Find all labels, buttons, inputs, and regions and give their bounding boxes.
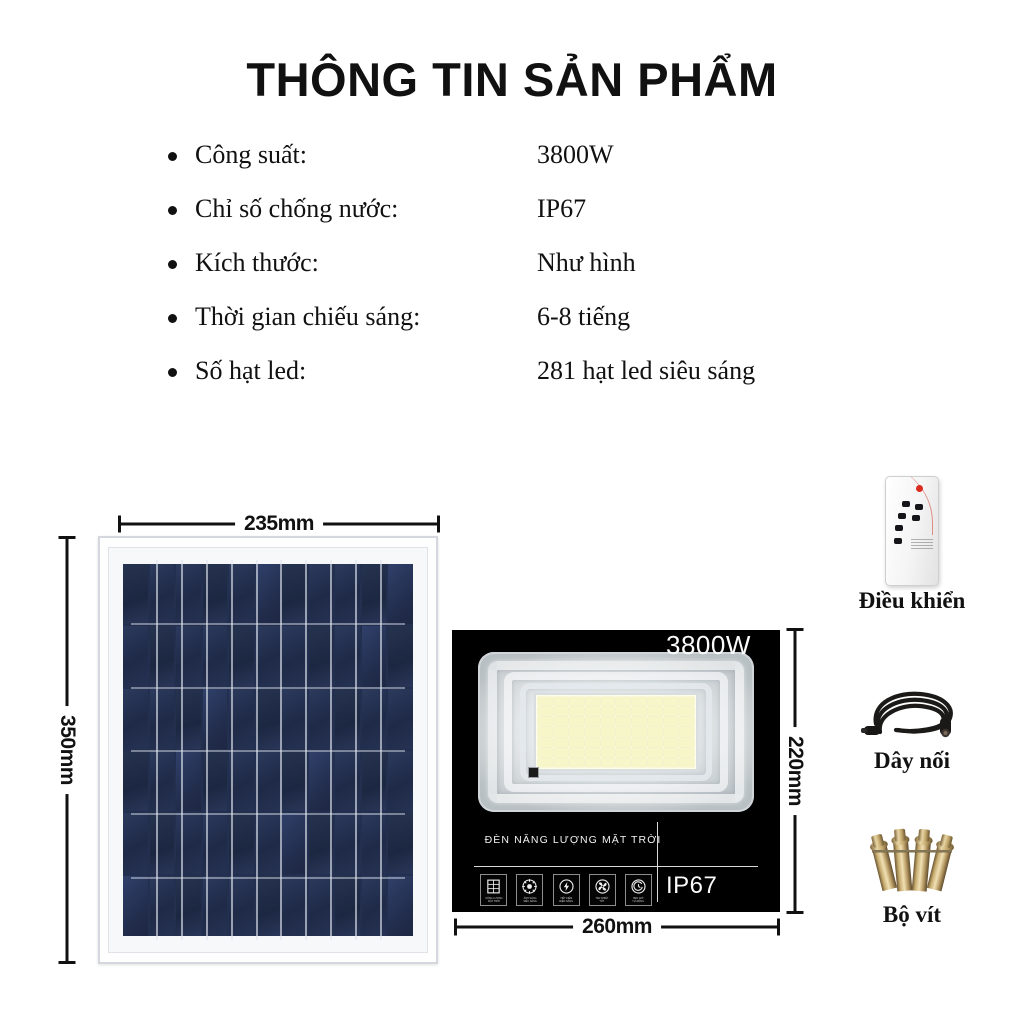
led-chip xyxy=(679,727,694,736)
solar-cell xyxy=(176,626,201,686)
sunburst-icon xyxy=(521,878,538,895)
led-chip xyxy=(601,697,616,706)
solar-cell xyxy=(388,813,413,873)
led-chip xyxy=(616,697,631,706)
solar-cell xyxy=(309,751,334,811)
spec-label: Thời gian chiếu sáng: xyxy=(195,301,537,333)
led-chip xyxy=(538,697,553,706)
solar-cell xyxy=(176,564,201,624)
led-chip xyxy=(538,738,553,747)
led-chip xyxy=(616,707,631,716)
bullet-icon xyxy=(168,368,177,377)
led-chip xyxy=(632,707,647,716)
led-chip xyxy=(632,727,647,736)
led-chip xyxy=(632,748,647,757)
solar-cell xyxy=(362,813,387,873)
solar-cell xyxy=(150,689,175,749)
remote-button-icon xyxy=(895,525,903,531)
spec-row: Chỉ số chống nước: IP67 xyxy=(168,193,888,247)
led-chip xyxy=(616,748,631,757)
accessory-caption: Dây nối xyxy=(812,748,1012,774)
solar-cell xyxy=(123,626,148,686)
floodlight-height-label: 220mm xyxy=(783,727,807,815)
led-chip xyxy=(664,758,679,767)
solar-cell xyxy=(203,689,228,749)
floodlight-black-panel: ĐÈN NĂNG LƯỢNG MẶT TRỜI 3800W IP67 NĂNG … xyxy=(452,630,780,912)
solar-cell xyxy=(229,751,254,811)
feature-badge-caption: HẸN GIỜ TỰ ĐỘNG xyxy=(633,897,645,903)
feature-badge-caption: NĂNG LƯỢNG MẶT TRỜI xyxy=(485,897,502,903)
dimension-end-cap xyxy=(59,961,76,964)
solar-cell xyxy=(256,813,281,873)
feature-badge: NĂNG LƯỢNG MẶT TRỜI xyxy=(480,874,507,906)
accessory-cable: Dây nối xyxy=(812,684,1012,774)
solar-cell xyxy=(176,751,201,811)
led-chip-array xyxy=(534,693,698,771)
solar-cell xyxy=(256,876,281,936)
remote-control-icon xyxy=(885,476,939,586)
led-chip xyxy=(679,707,694,716)
led-chip xyxy=(664,727,679,736)
led-chip xyxy=(538,707,553,716)
dimension-end-cap xyxy=(454,919,457,936)
accessory-caption: Bộ vít xyxy=(812,902,1012,928)
led-chip xyxy=(648,717,663,726)
bullet-icon xyxy=(168,260,177,269)
spec-list: Công suất: 3800W Chỉ số chống nước: IP67… xyxy=(168,139,888,409)
spec-value: IP67 xyxy=(537,193,888,225)
led-chip xyxy=(648,758,663,767)
solar-cell xyxy=(203,751,228,811)
dimension-end-cap xyxy=(118,516,121,533)
solar-cell xyxy=(335,876,360,936)
solar-cell xyxy=(282,876,307,936)
solar-panel-diagram: 235mm 350mm xyxy=(38,480,438,970)
floodlight-diagram: ĐÈN NĂNG LƯỢNG MẶT TRỜI 3800W IP67 NĂNG … xyxy=(452,620,800,950)
led-chip xyxy=(569,707,584,716)
led-chip xyxy=(679,717,694,726)
led-chip xyxy=(648,697,663,706)
floodlight-height-dimension: 220mm xyxy=(784,628,806,914)
solar-panel-height-dimension: 350mm xyxy=(56,536,78,964)
solar-cell xyxy=(150,876,175,936)
floodlight-caption-row: ĐÈN NĂNG LƯỢNG MẶT TRỜI xyxy=(474,826,764,864)
fan-icon xyxy=(594,878,611,895)
solar-cell xyxy=(256,626,281,686)
remote-text-block xyxy=(911,539,933,549)
led-chip xyxy=(585,707,600,716)
led-chip xyxy=(648,748,663,757)
solar-panel-icon xyxy=(485,878,502,895)
led-chip xyxy=(554,758,569,767)
solar-cell xyxy=(203,876,228,936)
led-chip xyxy=(538,748,553,757)
cable-connector-left xyxy=(861,726,880,735)
solar-cell xyxy=(388,876,413,936)
solar-cell xyxy=(362,751,387,811)
dimension-end-cap xyxy=(437,516,440,533)
floodlight-width-label: 260mm xyxy=(573,915,661,939)
floodlight-housing xyxy=(478,652,754,812)
solar-cell xyxy=(176,813,201,873)
led-chip xyxy=(585,738,600,747)
solar-panel-height-label: 350mm xyxy=(55,706,79,794)
solar-cell xyxy=(229,813,254,873)
feature-badge-caption: TẢN NHIỆT TỐT xyxy=(596,897,609,903)
led-chip xyxy=(664,707,679,716)
led-chip xyxy=(679,758,694,767)
cable-svg xyxy=(858,684,966,746)
solar-cell xyxy=(229,876,254,936)
solar-cell xyxy=(335,626,360,686)
led-chip xyxy=(664,717,679,726)
spec-row: Công suất: 3800W xyxy=(168,139,888,193)
led-chip xyxy=(569,697,584,706)
feature-badge: ÁNH SÁNG SIÊU SÁNG xyxy=(516,874,543,906)
feature-badge: TIẾT KIỆM ĐIỆN NĂNG xyxy=(553,874,580,906)
solar-cell xyxy=(282,689,307,749)
lightning-icon xyxy=(558,878,575,895)
led-chip xyxy=(538,758,553,767)
solar-cell xyxy=(282,751,307,811)
spec-value: 281 hạt led siêu sáng xyxy=(537,355,888,387)
led-chip xyxy=(554,717,569,726)
led-chip xyxy=(601,707,616,716)
solar-cell xyxy=(388,689,413,749)
dimension-end-cap xyxy=(59,536,76,539)
remote-button-icon xyxy=(894,538,902,544)
solar-cell xyxy=(150,564,175,624)
led-chip xyxy=(601,738,616,747)
spec-label: Công suất: xyxy=(195,139,537,171)
led-chip xyxy=(569,738,584,747)
solar-cell xyxy=(309,689,334,749)
dimension-end-cap xyxy=(787,911,804,914)
led-chip xyxy=(554,748,569,757)
solar-cell xyxy=(229,564,254,624)
led-chip xyxy=(538,727,553,736)
led-chip xyxy=(601,748,616,757)
remote-button-icon xyxy=(898,513,906,519)
solar-cell xyxy=(335,564,360,624)
led-chip xyxy=(601,727,616,736)
led-chip xyxy=(569,727,584,736)
solar-cell xyxy=(256,564,281,624)
product-diagram-area: 235mm 350mm ĐÈN NĂNG L xyxy=(0,470,1024,1024)
solar-cell xyxy=(123,564,148,624)
screws-svg xyxy=(860,824,964,900)
solar-panel-inner-frame xyxy=(108,547,428,953)
solar-cell xyxy=(203,564,228,624)
solar-cell xyxy=(388,751,413,811)
led-chip xyxy=(554,707,569,716)
light-sensor-icon xyxy=(528,767,539,778)
feature-badge: HẸN GIỜ TỰ ĐỘNG xyxy=(625,874,652,906)
solar-cell xyxy=(309,564,334,624)
led-chip xyxy=(601,758,616,767)
led-chip xyxy=(616,727,631,736)
feature-badge-caption: TIẾT KIỆM ĐIỆN NĂNG xyxy=(559,897,573,903)
led-chip xyxy=(616,717,631,726)
solar-cell xyxy=(150,813,175,873)
led-chip xyxy=(616,738,631,747)
solar-cell xyxy=(176,689,201,749)
timer-icon xyxy=(630,878,647,895)
spec-value: 3800W xyxy=(537,139,888,171)
accessory-remote-control: Điều khiển xyxy=(812,476,1012,614)
spec-value: 6-8 tiếng xyxy=(537,301,888,333)
solar-cell xyxy=(309,626,334,686)
led-chip xyxy=(585,748,600,757)
led-chip xyxy=(585,727,600,736)
feature-badge-caption: ÁNH SÁNG SIÊU SÁNG xyxy=(523,897,536,903)
floodlight-product-name: ĐÈN NĂNG LƯỢNG MẶT TRỜI xyxy=(474,834,672,846)
led-chip xyxy=(632,697,647,706)
floodlight-ip-rating-label: IP67 xyxy=(666,872,717,900)
spec-value: Như hình xyxy=(537,247,888,279)
screws-icon xyxy=(860,824,964,900)
solar-cell xyxy=(123,876,148,936)
led-chip xyxy=(569,717,584,726)
cable-icon xyxy=(858,684,966,746)
solar-cell xyxy=(203,626,228,686)
accessories-column: Điều khiển xyxy=(812,476,1012,976)
solar-cell xyxy=(282,626,307,686)
led-chip xyxy=(632,758,647,767)
accessory-caption: Điều khiển xyxy=(812,588,1012,614)
floodlight-width-dimension: 260mm xyxy=(454,917,780,937)
solar-cell xyxy=(282,564,307,624)
led-chip xyxy=(585,697,600,706)
divider-vertical xyxy=(657,822,658,902)
led-chip xyxy=(538,717,553,726)
solar-cell xyxy=(282,813,307,873)
solar-cell xyxy=(176,876,201,936)
feature-badge: TẢN NHIỆT TỐT xyxy=(589,874,616,906)
led-chip xyxy=(648,738,663,747)
remote-power-button-icon xyxy=(916,485,923,492)
remote-button-icon xyxy=(902,501,910,507)
led-chip xyxy=(632,717,647,726)
divider-horizontal xyxy=(474,866,758,867)
led-chip xyxy=(679,738,694,747)
solar-cell xyxy=(388,564,413,624)
led-chip xyxy=(585,758,600,767)
led-chip xyxy=(664,697,679,706)
solar-cell xyxy=(203,813,228,873)
spec-label: Kích thước: xyxy=(195,247,537,279)
dimension-end-cap xyxy=(787,628,804,631)
spec-row: Kích thước: Như hình xyxy=(168,247,888,301)
solar-cell xyxy=(309,876,334,936)
solar-cell xyxy=(229,626,254,686)
solar-cell xyxy=(362,564,387,624)
solar-panel-width-label: 235mm xyxy=(235,512,323,536)
floodlight-wattage-label: 3800W xyxy=(666,630,751,661)
led-chip xyxy=(554,727,569,736)
solar-cell xyxy=(150,751,175,811)
led-chip xyxy=(601,717,616,726)
led-chip xyxy=(569,758,584,767)
spec-row: Số hạt led: 281 hạt led siêu sáng xyxy=(168,355,888,409)
led-chip xyxy=(569,748,584,757)
solar-cell xyxy=(335,689,360,749)
led-chip xyxy=(554,697,569,706)
bullet-icon xyxy=(168,152,177,161)
page-title: THÔNG TIN SẢN PHẨM xyxy=(0,54,1024,106)
led-chip xyxy=(664,748,679,757)
led-chip xyxy=(616,758,631,767)
solar-panel-width-dimension: 235mm xyxy=(118,514,440,534)
led-chip xyxy=(648,727,663,736)
solar-panel-cell-grid xyxy=(123,564,413,936)
led-chip xyxy=(648,707,663,716)
solar-cell xyxy=(335,751,360,811)
solar-cell xyxy=(362,876,387,936)
solar-panel-frame xyxy=(98,536,438,964)
led-chip xyxy=(632,738,647,747)
solar-cell xyxy=(256,751,281,811)
solar-cell xyxy=(150,626,175,686)
bullet-icon xyxy=(168,314,177,323)
solar-cell xyxy=(362,689,387,749)
cable-connector-right xyxy=(940,718,951,737)
spec-label: Chỉ số chống nước: xyxy=(195,193,537,225)
led-chip xyxy=(679,748,694,757)
solar-cell xyxy=(123,751,148,811)
remote-button-icon xyxy=(912,515,920,521)
solar-cell xyxy=(123,689,148,749)
spec-row: Thời gian chiếu sáng: 6-8 tiếng xyxy=(168,301,888,355)
solar-cell xyxy=(229,689,254,749)
feature-badge-row: NĂNG LƯỢNG MẶT TRỜIÁNH SÁNG SIÊU SÁNGTIẾ… xyxy=(480,874,652,906)
led-chip xyxy=(679,697,694,706)
dimension-end-cap xyxy=(777,919,780,936)
led-chip xyxy=(664,738,679,747)
solar-cell xyxy=(309,813,334,873)
solar-cell xyxy=(123,813,148,873)
spec-label: Số hạt led: xyxy=(195,355,537,387)
bullet-icon xyxy=(168,206,177,215)
led-chip xyxy=(585,717,600,726)
accessory-screws: Bộ vít xyxy=(812,824,1012,928)
solar-cell xyxy=(256,689,281,749)
remote-button-icon xyxy=(915,504,923,510)
solar-cell xyxy=(335,813,360,873)
solar-cell xyxy=(388,626,413,686)
led-chip xyxy=(554,738,569,747)
solar-cell xyxy=(362,626,387,686)
